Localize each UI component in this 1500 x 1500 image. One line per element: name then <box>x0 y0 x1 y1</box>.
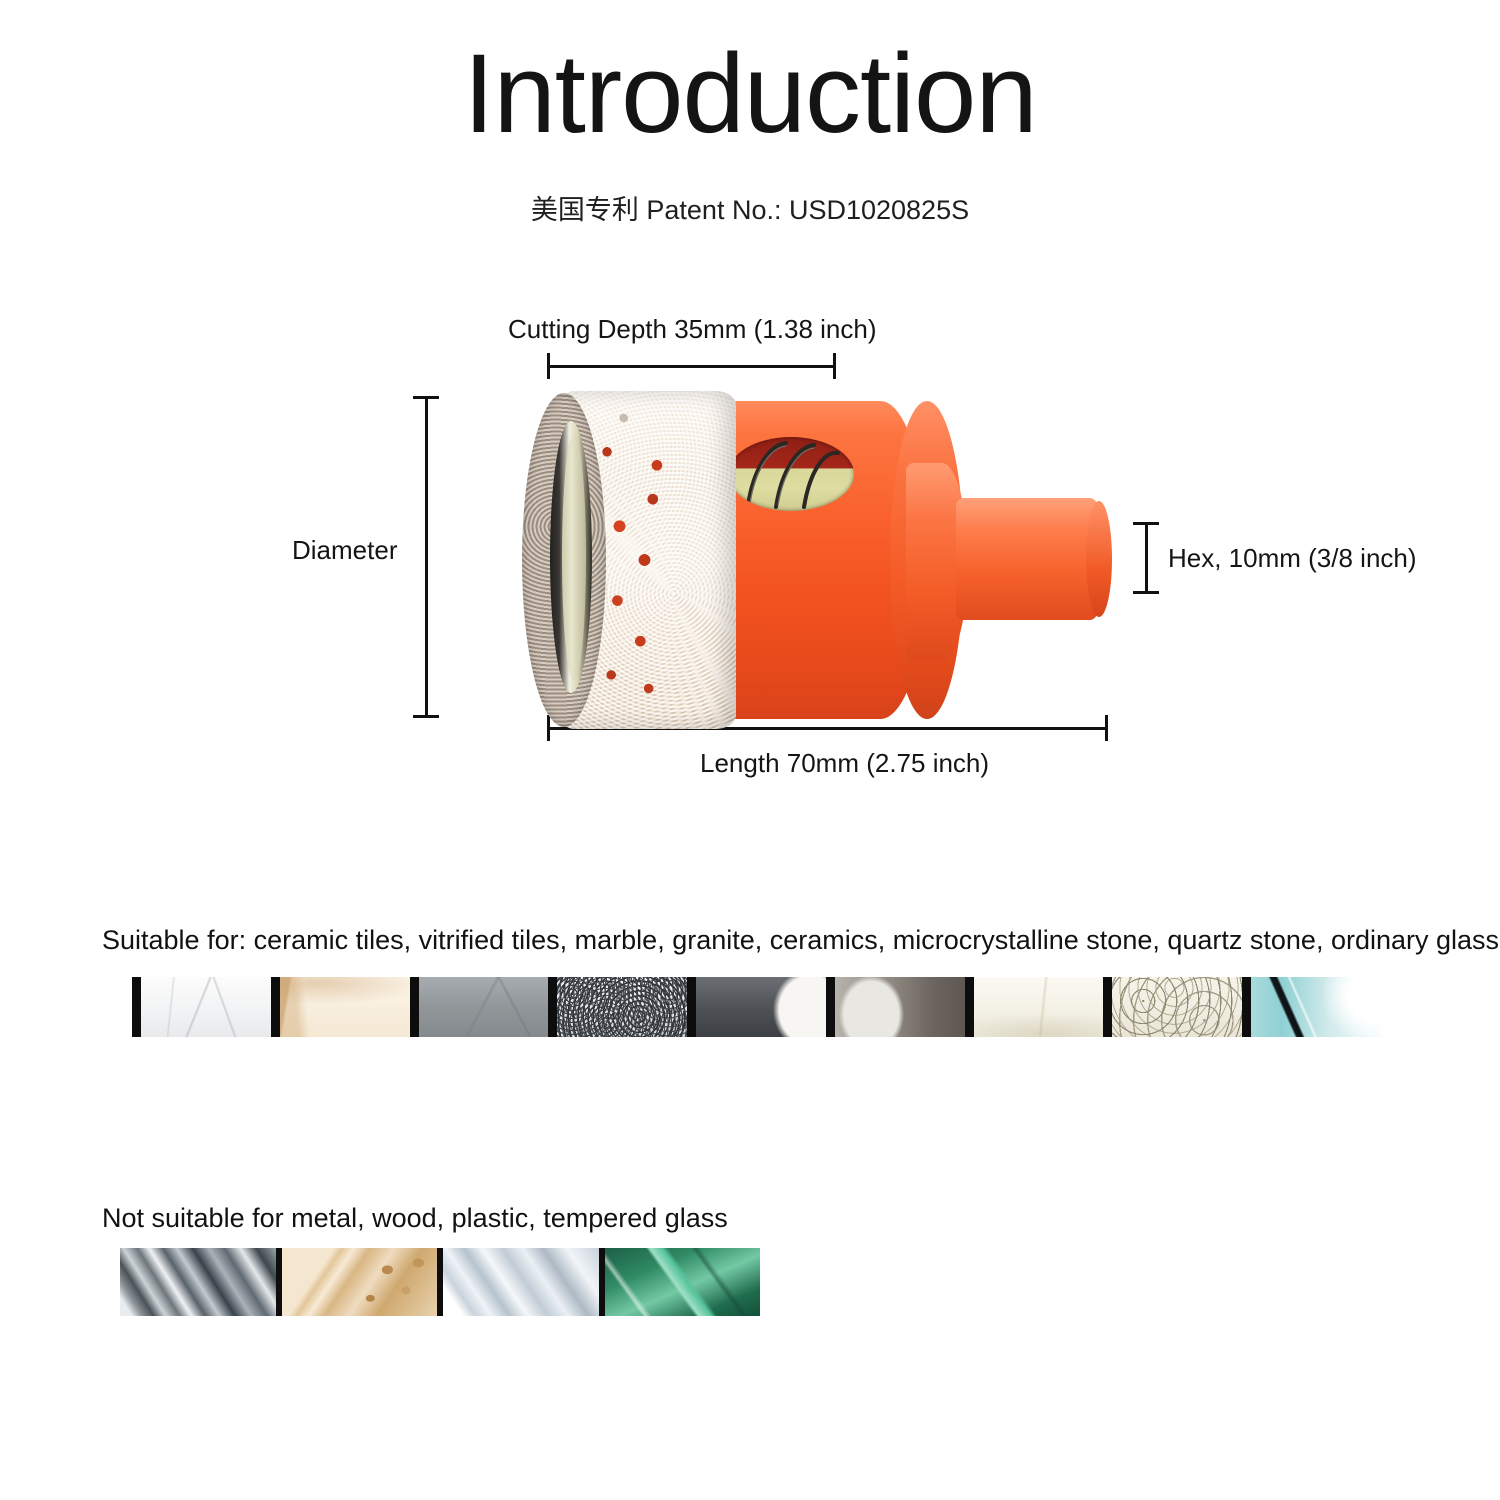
material-swatch-ordinary-glass <box>1251 977 1381 1037</box>
drill-bit-image <box>520 385 1130 735</box>
material-swatch-ceramic-tile <box>141 977 271 1037</box>
hex-dimension-line <box>1133 522 1159 594</box>
not-suitable-for-text: Not suitable for metal, wood, plastic, t… <box>102 1203 728 1234</box>
strip-separator <box>1103 977 1112 1037</box>
length-label: Length 70mm (2.75 inch) <box>700 748 989 779</box>
material-swatch-marble <box>419 977 549 1037</box>
material-swatch-plastic <box>443 1248 599 1316</box>
suitable-material-strip <box>132 977 1381 1037</box>
diameter-label: Diameter <box>292 535 397 566</box>
drill-bit-shank-end <box>1086 501 1112 617</box>
dimension-cap-bottom <box>413 715 439 718</box>
strip-separator <box>687 977 696 1037</box>
material-swatch-vitrified-tile <box>280 977 410 1037</box>
material-swatch-granite <box>557 977 687 1037</box>
product-dimension-diagram: Cutting Depth 35mm (1.38 inch) Diameter … <box>0 0 1500 830</box>
hex-size-label: Hex, 10mm (3/8 inch) <box>1168 543 1417 574</box>
strip-separator <box>548 977 557 1037</box>
cutting-depth-label: Cutting Depth 35mm (1.38 inch) <box>508 314 877 345</box>
material-swatch-tempered-glass <box>605 1248 761 1316</box>
material-swatch-quartz-stone <box>1112 977 1242 1037</box>
dimension-cap-bottom <box>1133 591 1159 594</box>
dimension-rule <box>1145 522 1148 594</box>
strip-separator <box>410 977 419 1037</box>
material-swatch-ceramic-vase <box>835 977 965 1037</box>
material-swatch-metal <box>120 1248 276 1316</box>
drill-bit-crown-bore-inner <box>562 433 586 681</box>
strip-separator <box>826 977 835 1037</box>
strip-separator <box>1242 977 1251 1037</box>
material-swatch-microcrystalline <box>974 977 1104 1037</box>
strip-separator <box>271 977 280 1037</box>
strip-separator <box>965 977 974 1037</box>
dimension-cap-right <box>833 353 836 379</box>
suitable-for-text: Suitable for: ceramic tiles, vitrified t… <box>102 925 1499 956</box>
cutting-depth-dimension-line <box>547 353 836 379</box>
strip-separator <box>132 977 141 1037</box>
dimension-rule <box>425 396 428 718</box>
diameter-dimension-line <box>413 396 439 718</box>
drill-bit-spring-window <box>728 437 854 511</box>
material-swatch-wood <box>282 1248 438 1316</box>
dimension-rule <box>547 365 836 368</box>
not-suitable-material-strip <box>120 1248 760 1316</box>
material-swatch-ceramics <box>696 977 826 1037</box>
